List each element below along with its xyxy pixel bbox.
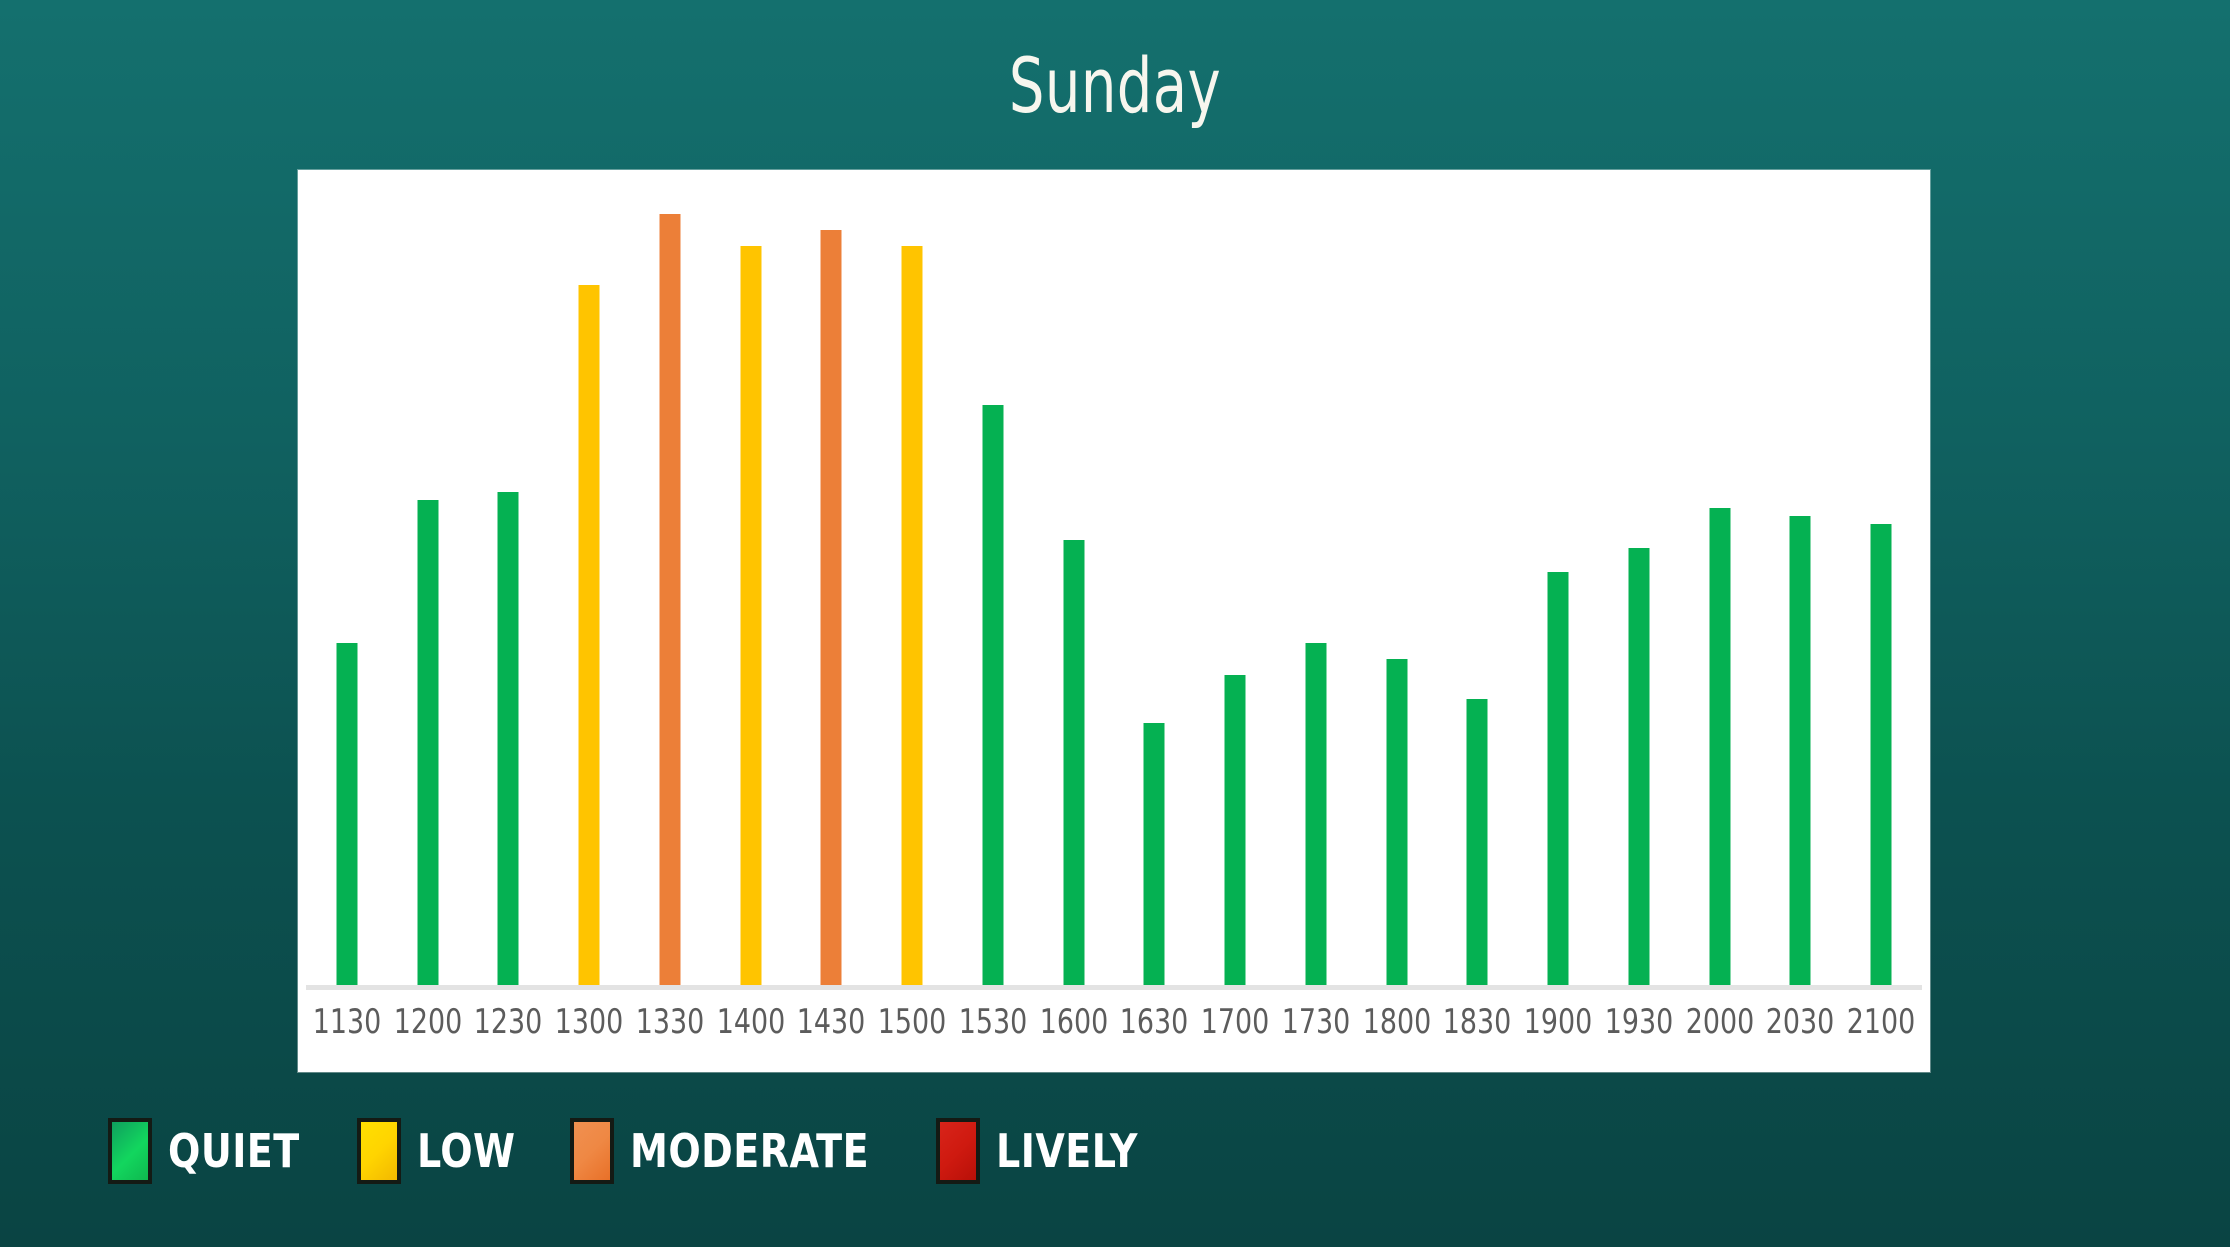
bar-slot[interactable] <box>1358 190 1436 985</box>
legend-item-quiet[interactable]: QUIET <box>108 1118 311 1184</box>
x-axis-line <box>306 985 1922 990</box>
chart-bar[interactable] <box>1871 524 1892 985</box>
x-axis-tick-label: 2030 <box>1766 1002 1835 1042</box>
x-axis-tick-label: 1830 <box>1443 1002 1512 1042</box>
chart-bar[interactable] <box>1063 540 1084 985</box>
chart-bar[interactable] <box>1386 659 1407 985</box>
legend-swatch-icon <box>570 1118 614 1184</box>
x-axis-tick-label: 1930 <box>1604 1002 1673 1042</box>
bar-slot[interactable] <box>469 190 547 985</box>
bar-slot[interactable] <box>1277 190 1355 985</box>
x-axis-tick-label: 1800 <box>1362 1002 1431 1042</box>
chart-bar[interactable] <box>417 500 438 985</box>
x-axis-tick-label: 1300 <box>555 1002 624 1042</box>
chart-legend: QUIETLOWMODERATELIVELY <box>108 1118 1196 1184</box>
page-title: Sunday <box>201 48 2030 124</box>
x-axis-tick-label: 1400 <box>716 1002 785 1042</box>
x-axis-tick-label: 1230 <box>474 1002 543 1042</box>
x-axis-tick-label: 2000 <box>1685 1002 1754 1042</box>
chart-bar[interactable] <box>821 230 842 985</box>
chart-bar[interactable] <box>1144 723 1165 985</box>
bar-slot[interactable] <box>1035 190 1113 985</box>
bar-slot[interactable] <box>308 190 386 985</box>
x-axis-tick-label: 1530 <box>959 1002 1028 1042</box>
x-axis-tick-label: 1730 <box>1282 1002 1351 1042</box>
legend-item-label: LOW <box>417 1124 516 1178</box>
legend-item-low[interactable]: LOW <box>357 1118 524 1184</box>
chart-bar[interactable] <box>1628 548 1649 985</box>
bar-slot[interactable] <box>1842 190 1920 985</box>
chart-bar[interactable] <box>740 246 761 985</box>
bar-slot[interactable] <box>792 190 870 985</box>
x-axis-tick-label: 1500 <box>878 1002 947 1042</box>
chart-bar[interactable] <box>659 214 680 985</box>
chart-bar[interactable] <box>1790 516 1811 985</box>
chart-plot-area <box>308 190 1920 985</box>
chart-bar[interactable] <box>902 246 923 985</box>
bar-slot[interactable] <box>550 190 628 985</box>
x-axis-tick-label: 2100 <box>1847 1002 1916 1042</box>
x-axis-tick-label: 1200 <box>393 1002 462 1042</box>
x-axis-tick-label: 1330 <box>636 1002 705 1042</box>
legend-item-label: MODERATE <box>630 1124 869 1178</box>
bar-slot[interactable] <box>1115 190 1193 985</box>
legend-item-lively[interactable]: LIVELY <box>936 1118 1150 1184</box>
chart-bar[interactable] <box>982 405 1003 985</box>
bar-slot[interactable] <box>1681 190 1759 985</box>
chart-bar[interactable] <box>337 643 358 985</box>
bar-slot[interactable] <box>1196 190 1274 985</box>
bar-slot[interactable] <box>389 190 467 985</box>
bar-slot[interactable] <box>1519 190 1597 985</box>
bar-slot[interactable] <box>631 190 709 985</box>
legend-item-moderate[interactable]: MODERATE <box>570 1118 890 1184</box>
chart-bar[interactable] <box>579 285 600 985</box>
x-axis-tick-label: 1600 <box>1039 1002 1108 1042</box>
legend-item-label: QUIET <box>168 1124 300 1178</box>
chart-bar[interactable] <box>1225 675 1246 985</box>
chart-bar[interactable] <box>1305 643 1326 985</box>
bar-slot[interactable] <box>873 190 951 985</box>
slide-canvas: Sunday 113012001230130013301400143015001… <box>0 0 2230 1247</box>
x-axis-tick-label: 1900 <box>1524 1002 1593 1042</box>
x-axis-tick-label: 1630 <box>1120 1002 1189 1042</box>
bar-slot[interactable] <box>712 190 790 985</box>
legend-swatch-icon <box>357 1118 401 1184</box>
chart-panel: 1130120012301300133014001430150015301600… <box>298 170 1930 1072</box>
legend-swatch-icon <box>936 1118 980 1184</box>
bar-slot[interactable] <box>1600 190 1678 985</box>
chart-bar[interactable] <box>1467 699 1488 985</box>
x-axis-tick-label: 1700 <box>1201 1002 1270 1042</box>
x-axis-labels: 1130120012301300133014001430150015301600… <box>308 996 1920 1056</box>
x-axis-tick-label: 1430 <box>797 1002 866 1042</box>
legend-swatch-icon <box>108 1118 152 1184</box>
chart-bar[interactable] <box>1709 508 1730 985</box>
bar-slot[interactable] <box>1438 190 1516 985</box>
x-axis-tick-label: 1130 <box>313 1002 382 1042</box>
legend-item-label: LIVELY <box>996 1124 1138 1178</box>
chart-bar[interactable] <box>498 492 519 985</box>
bar-slot[interactable] <box>1761 190 1839 985</box>
bar-slot[interactable] <box>954 190 1032 985</box>
chart-bar[interactable] <box>1548 572 1569 985</box>
